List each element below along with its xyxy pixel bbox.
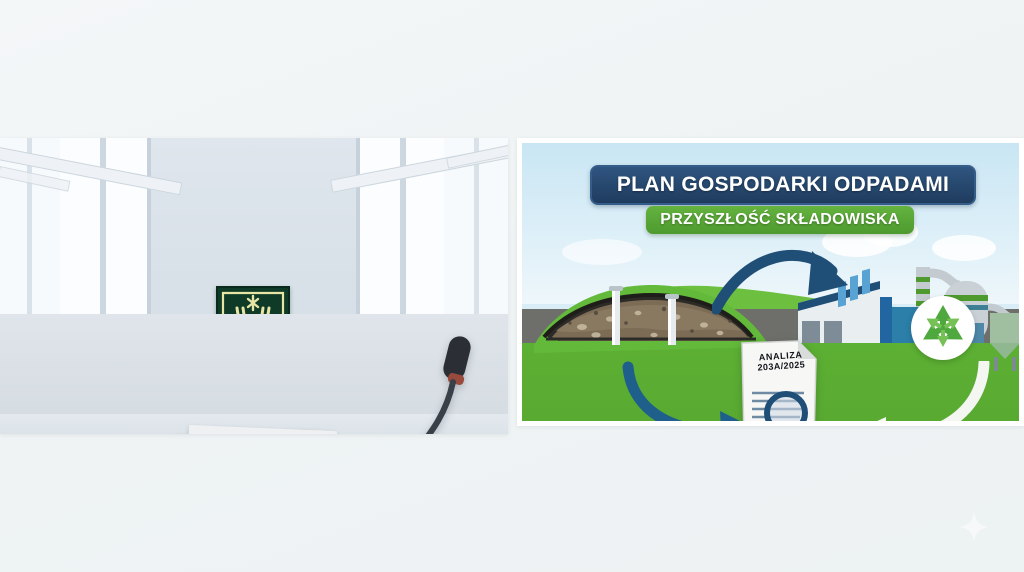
- waste-plan-banner-title: PLAN GOSPODARKI ODPADAMI: [590, 165, 976, 205]
- banner-subtitle-text: PRZYSZŁOŚĆ SKŁADOWISKA: [660, 211, 900, 229]
- banner-title-text: PLAN GOSPODARKI ODPADAMI: [617, 173, 949, 197]
- analysis-document-icon: [738, 339, 820, 426]
- sparkle-icon: [957, 510, 991, 544]
- waste-plan-banner-subtitle: PRZYSZŁOŚĆ SKŁADOWISKA: [646, 206, 914, 234]
- recycling-symbol-icon: [910, 295, 976, 361]
- council-chamber-illustration: RADA MIASTA JASTRZĘBIE-ZDRÓJ SESJA 26.02…: [0, 138, 508, 434]
- page-background: RADA MIASTA JASTRZĘBIE-ZDRÓJ SESJA 26.02…: [0, 0, 1024, 572]
- conference-microphone-icon: [352, 332, 488, 434]
- arrow-facility-to-analysis: [812, 361, 992, 426]
- cloud-4: [562, 239, 642, 265]
- waste-management-plan-illustration: ANALIZA 203A/2025 PLAN GOSPODARKI ODPADA…: [517, 138, 1024, 426]
- arrow-landfill-to-facility: [712, 243, 872, 321]
